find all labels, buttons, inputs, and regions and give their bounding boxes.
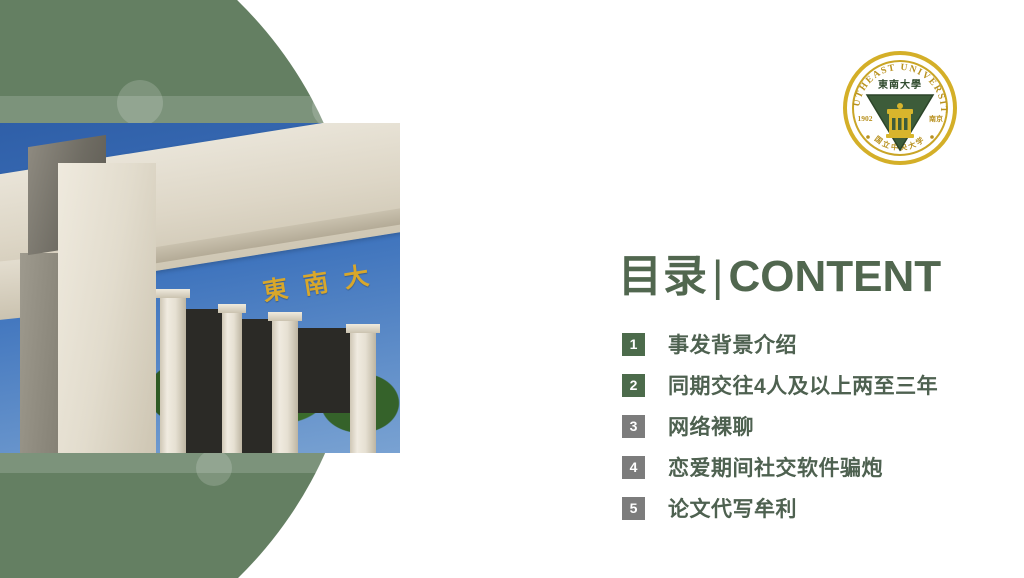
list-item[interactable]: 5 论文代写牟利 (622, 494, 1022, 522)
list-item[interactable]: 1 事发背景介绍 (622, 330, 1022, 358)
stone-column-4 (350, 333, 376, 453)
list-item[interactable]: 2 同期交往4人及以上两至三年 (622, 371, 1022, 399)
toc-number-badge: 2 (622, 374, 645, 397)
slide-canvas: 東南大 SOUTHEAST UNIVERSITY 国立中央大学 東南大學 (0, 0, 1024, 578)
page-title-cn: 目录 (618, 252, 708, 301)
toc-item-label: 同期交往4人及以上两至三年 (668, 370, 938, 400)
page-title: 目录|CONTENT (618, 240, 941, 304)
toc-item-label: 论文代写牟利 (668, 493, 797, 523)
stone-column-1 (160, 298, 186, 453)
page-title-en: CONTENT (728, 252, 941, 301)
toc-number-badge: 1 (622, 333, 645, 356)
toc-number-badge: 4 (622, 456, 645, 479)
stone-column-2 (222, 313, 242, 453)
archway-gap-1 (186, 309, 222, 453)
archway-gap-2 (242, 319, 272, 453)
campus-gate-photo: 東南大 (0, 123, 400, 453)
content-panel: 目录|CONTENT 1 事发背景介绍 2 同期交往4人及以上两至三年 3 网络… (612, 0, 1024, 578)
stone-column-3 (272, 321, 298, 453)
toc-item-label: 网络裸聊 (668, 411, 754, 441)
toc-item-label: 事发背景介绍 (668, 329, 797, 359)
toc-number-badge: 3 (622, 415, 645, 438)
table-of-contents: 1 事发背景介绍 2 同期交往4人及以上两至三年 3 网络裸聊 4 恋爱期间社交… (622, 330, 1022, 535)
toc-number-badge: 5 (622, 497, 645, 520)
title-divider: | (708, 252, 728, 301)
archway-gap-3 (298, 328, 350, 413)
list-item[interactable]: 3 网络裸聊 (622, 412, 1022, 440)
list-item[interactable]: 4 恋爱期间社交软件骗炮 (622, 453, 1022, 481)
toc-item-label: 恋爱期间社交软件骗炮 (668, 452, 883, 482)
pylon (58, 163, 156, 453)
